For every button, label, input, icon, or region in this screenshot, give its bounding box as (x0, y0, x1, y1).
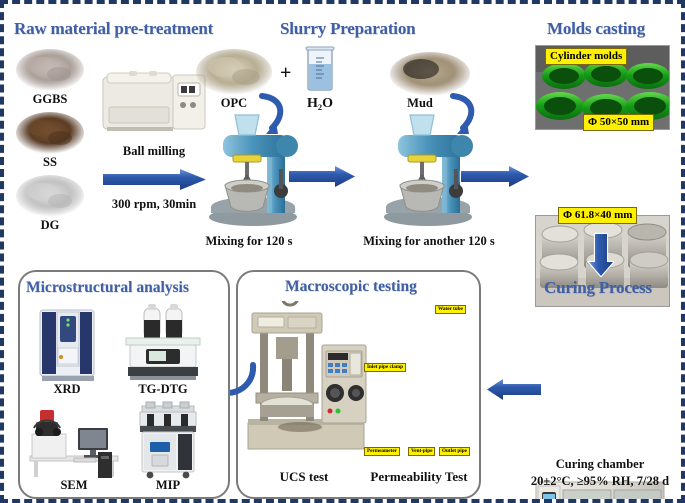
ucs-test-label: UCS test (249, 469, 359, 485)
specimen-size-label: Φ 61.8×40 mm (558, 207, 637, 224)
material-label-ggbs: GGBS (14, 92, 86, 107)
permeability-test-label: Permeability Test (359, 469, 479, 485)
material-label-ss: SS (14, 155, 86, 170)
water-beaker-icon (300, 44, 340, 96)
annotation-permeameter: Permeameter (364, 447, 400, 456)
section-title-macroscopic: Macroscopic testing (285, 278, 417, 296)
material-label-water: H₂O (300, 96, 340, 112)
material-label-dg: DG (14, 218, 86, 233)
annotation-outlet-pipe: Outlet pipe (439, 447, 470, 456)
powder-pile-opc (194, 46, 274, 96)
mixing-step-1-label: Mixing for 120 s (174, 234, 324, 249)
instrument-label-tg-dtg: TG-DTG (122, 382, 204, 397)
annotation-vent-pipe: Vent-pipe (408, 447, 435, 456)
annotation-inlet-pipe-clamp: Inlet pipe clamp (364, 363, 406, 372)
ucs-testing-machine (244, 301, 368, 456)
powder-pile-mud (387, 48, 473, 98)
instrument-label-mip: MIP (132, 478, 204, 493)
right-arrow-icon-mixer1-to-mixer2 (287, 164, 357, 190)
powder-pile-dg (14, 172, 86, 218)
instrument-mip (132, 400, 204, 480)
mixing-step-2-label: Mixing for another 120 s (344, 234, 514, 249)
instrument-label-sem: SEM (26, 478, 122, 493)
section-title-raw-material: Raw material pre-treatment (14, 19, 213, 39)
instrument-label-xrd: XRD (36, 382, 98, 397)
section-title-curing: Curing Process (544, 278, 652, 298)
section-title-slurry: Slurry Preparation (280, 19, 415, 39)
curing-conditions-label: 20±2°C, ≥95% RH, 7/28 d (514, 474, 685, 489)
workflow-figure: Raw material pre-treatment GGBS SS DG Ba… (0, 0, 685, 503)
annotation-water-tube: Water tube (435, 305, 466, 314)
cylinder-molds-label: Cylinder molds (545, 48, 627, 65)
instrument-tg-dtg (122, 304, 204, 382)
section-title-molds: Molds casting (547, 19, 645, 39)
curing-chamber-label: Curing chamber (524, 457, 676, 472)
down-arrow-icon-molds-to-curing (587, 232, 615, 278)
instrument-sem (26, 402, 122, 480)
section-title-microstructural: Microstructural analysis (26, 279, 189, 297)
plus-symbol: + (280, 62, 291, 85)
powder-pile-ggbs (14, 46, 86, 92)
right-arrow-icon-mixing-to-molds (459, 164, 531, 190)
right-arrow-icon-milling-to-mixing (100, 167, 210, 193)
instrument-xrd (36, 304, 98, 382)
ball-mill-machine (99, 67, 209, 135)
left-arrow-icon-curing-to-macroscopic (485, 377, 543, 403)
mold-size-label: Φ 50×50 mm (583, 114, 654, 131)
powder-pile-ss (14, 109, 86, 155)
